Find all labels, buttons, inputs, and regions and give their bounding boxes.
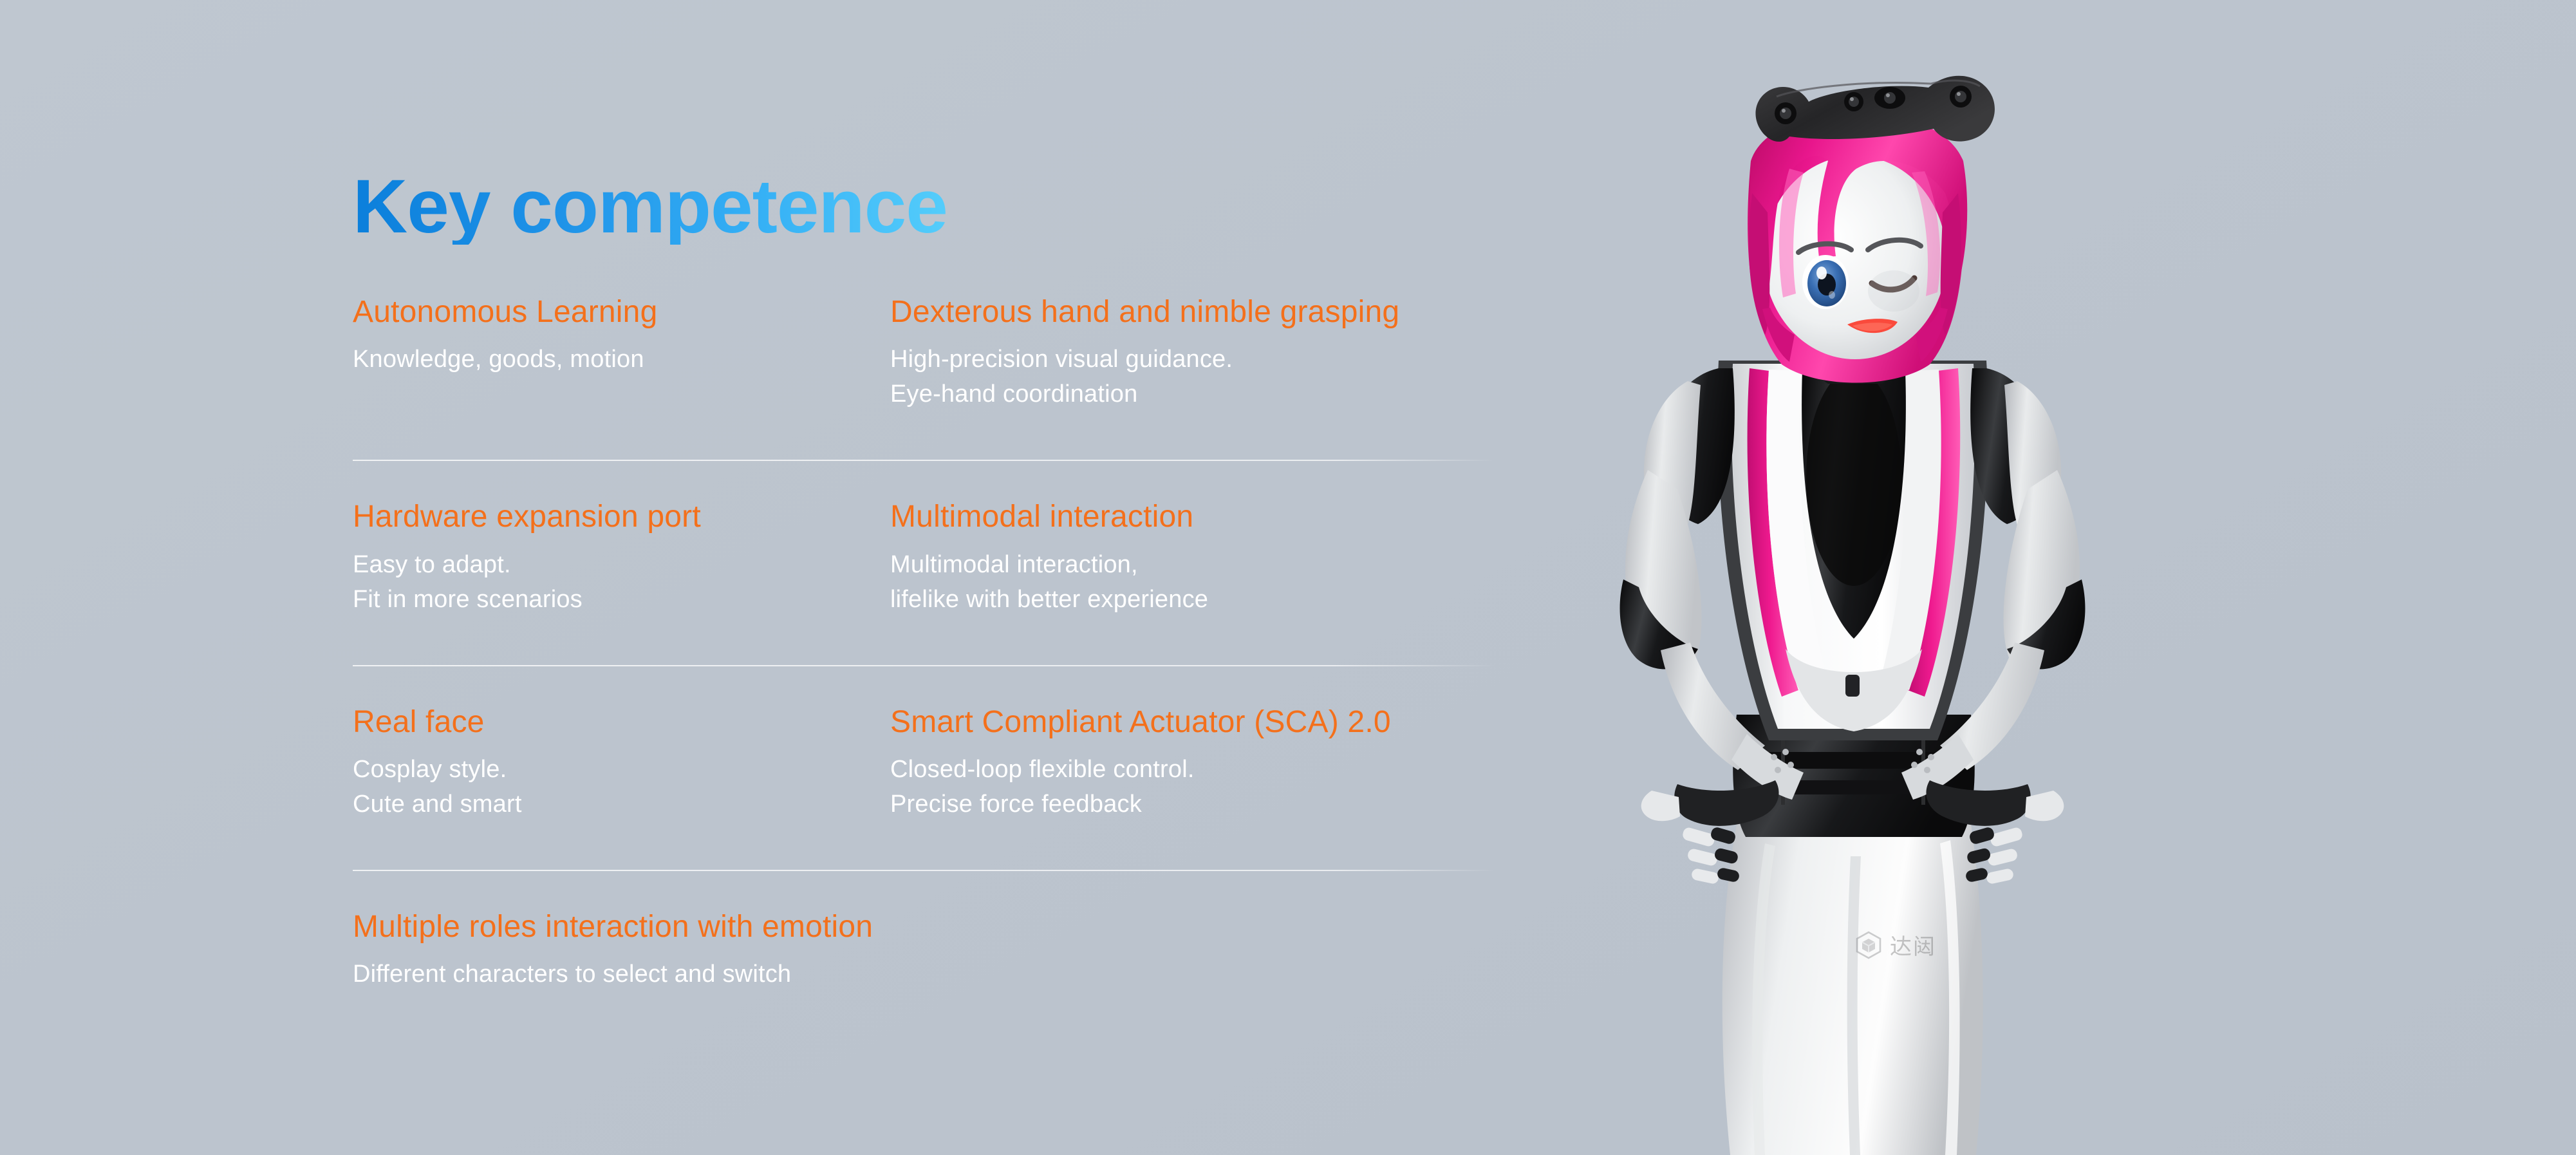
brand-logo: 达闼: [1854, 929, 1936, 961]
feature-description: High-precision visual guidance. Eye-hand…: [890, 343, 1498, 412]
cube-hexagon-icon: [1854, 930, 1883, 960]
brand-logo-text: 达闼: [1890, 929, 1936, 961]
feature-description: Cosplay style. Cute and smart: [353, 753, 890, 822]
robot-illustration: [1526, 0, 2169, 1155]
feature-heading: Real face: [353, 706, 890, 738]
feature-heading: Dexterous hand and nimble grasping: [890, 296, 1498, 328]
row-spacer: [353, 822, 1498, 870]
row-spacer: [353, 617, 1498, 665]
feature-description: Closed-loop flexible control. Precise fo…: [890, 753, 1498, 822]
row-spacer: [353, 871, 1498, 911]
feature-row: Hardware expansion port Easy to adapt. F…: [353, 501, 1498, 617]
feature-cell[interactable]: Real face Cosplay style. Cute and smart: [353, 706, 890, 822]
feature-row: Real face Cosplay style. Cute and smart …: [353, 706, 1498, 822]
feature-row: Multiple roles interaction with emotion …: [353, 911, 1498, 992]
feature-row: Autonomous Learning Knowledge, goods, mo…: [353, 296, 1498, 412]
feature-heading: Autonomous Learning: [353, 296, 890, 328]
row-spacer: [353, 666, 1498, 706]
page-title: Key competence: [353, 169, 947, 245]
feature-heading: Hardware expansion port: [353, 501, 890, 533]
feature-description: Easy to adapt. Fit in more scenarios: [353, 548, 890, 617]
row-spacer: [353, 461, 1498, 501]
feature-heading: Multiple roles interaction with emotion: [353, 911, 1498, 943]
feature-description: Multimodal interaction, lifelike with be…: [890, 548, 1498, 617]
feature-grid: Autonomous Learning Knowledge, goods, mo…: [353, 296, 1498, 992]
feature-description: Knowledge, goods, motion: [353, 343, 890, 377]
feature-cell[interactable]: Autonomous Learning Knowledge, goods, mo…: [353, 296, 890, 412]
feature-cell[interactable]: Dexterous hand and nimble grasping High-…: [890, 296, 1498, 412]
feature-heading: Multimodal interaction: [890, 501, 1498, 533]
row-spacer: [353, 412, 1498, 460]
feature-cell[interactable]: Hardware expansion port Easy to adapt. F…: [353, 501, 890, 617]
feature-cell[interactable]: Multiple roles interaction with emotion …: [353, 911, 1498, 992]
feature-cell[interactable]: Smart Compliant Actuator (SCA) 2.0 Close…: [890, 706, 1498, 822]
feature-cell[interactable]: Multimodal interaction Multimodal intera…: [890, 501, 1498, 617]
feature-description: Different characters to select and switc…: [353, 957, 1498, 992]
slide-root: Key competence Autonomous Learning Knowl…: [0, 0, 2576, 1155]
feature-heading: Smart Compliant Actuator (SCA) 2.0: [890, 706, 1498, 738]
